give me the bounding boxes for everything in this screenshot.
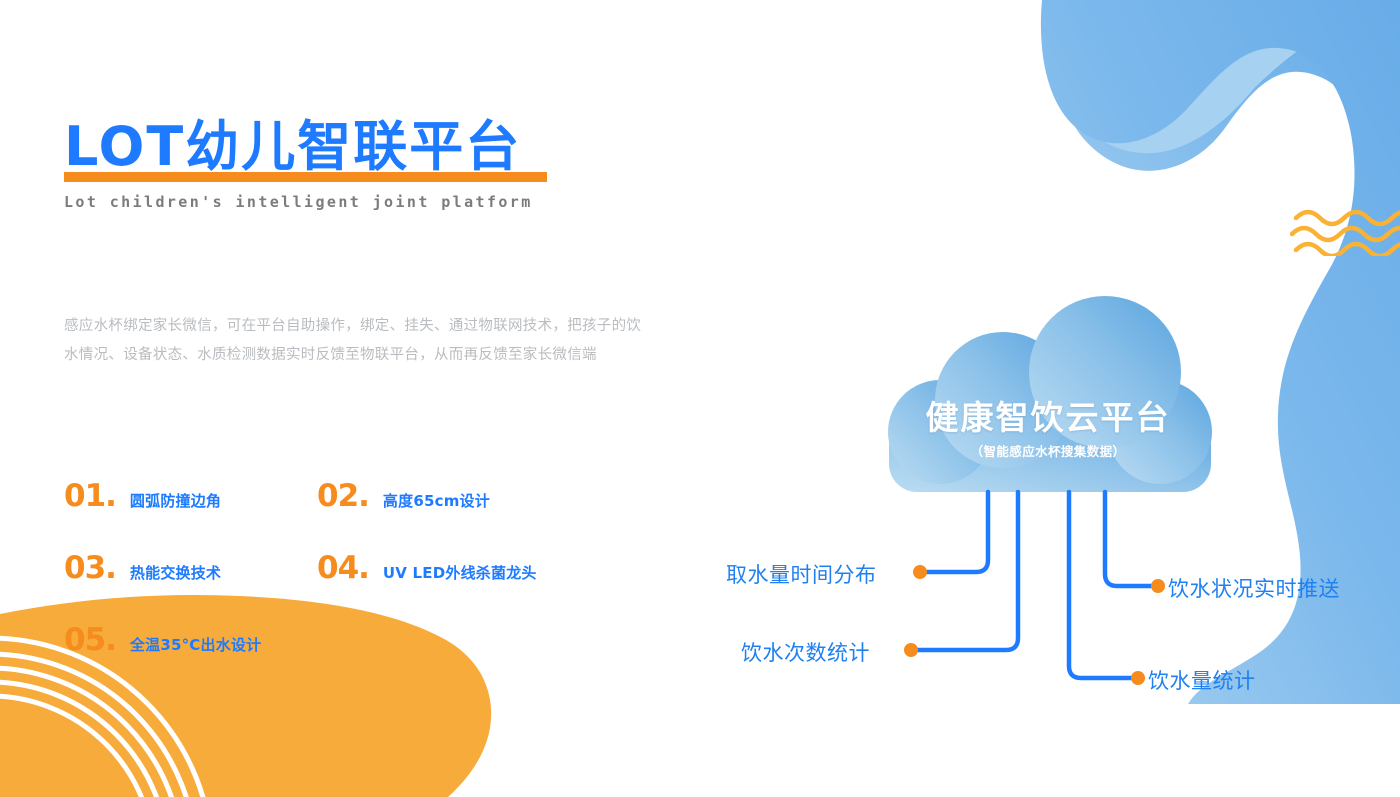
page-subtitle: Lot children's intelligent joint platfor… (64, 193, 547, 211)
feature-number: 02. (317, 478, 369, 514)
feature-label: 高度65cm设计 (383, 490, 490, 511)
cloud-subtitle: （智能感应水杯搜集数据） (868, 441, 1228, 460)
connector-line-3 (1105, 492, 1154, 586)
page-header: LOT幼儿智联平台 Lot children's intelligent joi… (64, 118, 547, 211)
feature-number: 01. (64, 478, 116, 514)
feature-list: 01. 圆弧防撞边角 02. 高度65cm设计 03. 热能交换技术 04. U… (64, 478, 594, 658)
connector-line-4 (1069, 492, 1134, 678)
feature-item-03: 03. 热能交换技术 (64, 550, 317, 586)
connector-dot-4 (1131, 671, 1145, 685)
connector-dot-2 (904, 643, 918, 657)
cloud-text-block: 健康智饮云平台 （智能感应水杯搜集数据） (868, 400, 1228, 460)
concentric-rings (0, 638, 212, 797)
feature-label: 圆弧防撞边角 (130, 490, 221, 511)
orange-wave-lines (1292, 212, 1400, 256)
connector-line-1 (924, 492, 988, 572)
feature-label: UV LED外线杀菌龙头 (383, 562, 537, 583)
connector-dot-3 (1151, 579, 1165, 593)
connector-label-realtime-push: 饮水状况实时推送 (1168, 573, 1340, 603)
cloud-platform-node: 健康智饮云平台 （智能感应水杯搜集数据） (868, 296, 1228, 496)
feature-row: 05. 全温35°C出水设计 (64, 622, 594, 658)
page-title: LOT幼儿智联平台 (64, 118, 547, 176)
connector-dots (904, 565, 1165, 685)
connector-line-2 (915, 492, 1018, 650)
feature-number: 03. (64, 550, 116, 586)
connector-label-drink-count-stats: 饮水次数统计 (741, 637, 870, 667)
description-paragraph: 感应水杯绑定家长微信，可在平台自助操作，绑定、挂失、通过物联网技术，把孩子的饮水… (64, 312, 654, 370)
feature-number: 04. (317, 550, 369, 586)
feature-item-01: 01. 圆弧防撞边角 (64, 478, 317, 514)
feature-number: 05. (64, 622, 116, 658)
feature-label: 全温35°C出水设计 (130, 634, 261, 655)
connector-label-water-time-distribution: 取水量时间分布 (726, 559, 877, 589)
feature-item-02: 02. 高度65cm设计 (317, 478, 490, 514)
slide-canvas: LOT幼儿智联平台 Lot children's intelligent joi… (0, 0, 1400, 797)
connector-dot-1 (913, 565, 927, 579)
feature-row: 03. 热能交换技术 04. UV LED外线杀菌龙头 (64, 550, 594, 586)
feature-item-05: 05. 全温35°C出水设计 (64, 622, 261, 658)
feature-label: 热能交换技术 (130, 562, 221, 583)
feature-item-04: 04. UV LED外线杀菌龙头 (317, 550, 537, 586)
connector-label-volume-stats: 饮水量统计 (1148, 665, 1256, 695)
connector-lines (915, 492, 1154, 678)
feature-row: 01. 圆弧防撞边角 02. 高度65cm设计 (64, 478, 594, 514)
cloud-title: 健康智饮云平台 (868, 400, 1228, 436)
